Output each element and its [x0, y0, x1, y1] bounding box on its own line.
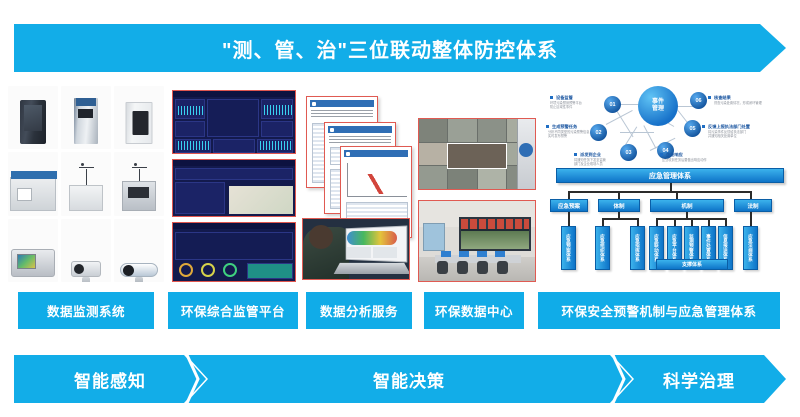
hub-node-05-num: 05	[689, 126, 695, 132]
tree-branch-jizhi: 机制	[650, 199, 724, 212]
hub-sub-05: 将污染事件反馈给执法部门 并通知相关处置单位	[708, 130, 746, 139]
cat-emergency[interactable]: 环保安全预警机制与应急管理体系	[538, 292, 780, 329]
hub-node-02: 02	[590, 124, 607, 141]
cat-data-center[interactable]: 环保数据中心	[424, 292, 524, 329]
equipment-photo-micro-station	[61, 152, 111, 215]
equipment-photo-portable-kit	[8, 219, 58, 282]
hub-node-02-num: 02	[595, 130, 601, 136]
data-center-photo-stack	[418, 118, 536, 282]
equipment-photo-ptz-camera	[61, 219, 111, 282]
analyst-laptop-photo	[302, 218, 410, 280]
tree-support-band: 支撑体系	[656, 259, 728, 270]
equipment-photo-analyzer	[61, 86, 111, 149]
hub-sub-04: 企业收到任务后要做出响应动作	[662, 158, 707, 162]
hub-node-03: 03	[620, 144, 637, 161]
step-governance[interactable]: 科学治理	[612, 355, 786, 403]
dashboard-screenshot-overview	[172, 90, 296, 154]
tree-branch-fazhi: 法制	[734, 199, 772, 212]
emergency-management-diagram: 事件 管理 01 02 03 04 05 06 设备监管 环境污染预测预警平台 …	[544, 84, 796, 282]
tree-branch-yjya: 应急预案	[550, 199, 588, 212]
dashboard-screenshot-stack	[172, 90, 296, 282]
tree-root-node: 应急管理体系	[556, 168, 784, 183]
tree-leaf-tizhi-1: 应急组织体系	[595, 226, 610, 270]
hub-node-06-num: 06	[695, 98, 701, 104]
hub-sub-03: 将通知任务下发至监管 部门及企业现场人员	[574, 158, 606, 167]
cat-env-platform[interactable]: 环保综合监管平台	[168, 292, 298, 329]
hub-sub-02: 分析不同类型的污染预警信息 实时发布预警	[548, 130, 589, 139]
cctv-multiview-photo	[418, 118, 536, 190]
equipment-photo-station	[8, 152, 58, 215]
dashboard-screenshot-source-list	[172, 159, 296, 217]
hub-node-01: 01	[604, 96, 621, 113]
hub-node-06: 06	[690, 92, 707, 109]
hub-center-node: 事件 管理	[638, 86, 678, 126]
equipment-photo-weather-sensor	[114, 152, 164, 215]
dashboard-screenshot-analysis	[172, 222, 296, 282]
cat-data-analysis[interactable]: 数据分析服务	[306, 292, 412, 329]
tree-leaf-tizhi-2: 应急指挥体系	[630, 226, 645, 270]
control-room-photo	[418, 200, 536, 282]
step-perception[interactable]: 智能感知	[14, 355, 206, 403]
equipment-photo-laser-camera	[114, 219, 164, 282]
process-flow: 智能感知 智能决策 科学治理	[14, 355, 786, 403]
step-decision[interactable]: 智能决策	[186, 355, 632, 403]
equipment-photo-grid	[8, 86, 164, 282]
equipment-photo-sampler	[114, 86, 164, 149]
hub-node-01-num: 01	[609, 102, 615, 108]
hub-sub-01: 环境污染预测预警平台 防止区域性事件	[550, 101, 582, 110]
tree-leaf-fazhi-1: 应急法规体系	[743, 226, 758, 270]
equipment-photo-cabinet	[8, 86, 58, 149]
hub-node-05: 05	[684, 120, 701, 137]
hub-center-label: 事件 管理	[652, 99, 664, 113]
tree-leaf-yjya-1: 应急预案体系	[561, 226, 576, 270]
infographic-page: "测、管、治"三位联动整体防控体系	[0, 0, 800, 417]
hub-sub-06: 督查污染处置情况，形成闭环管理	[714, 101, 762, 105]
tree-branch-tizhi: 体制	[598, 199, 640, 212]
page-title: "测、管、治"三位联动整体防控体系	[14, 24, 786, 72]
cat-data-monitoring[interactable]: 数据监测系统	[18, 292, 154, 329]
title-banner: "测、管、治"三位联动整体防控体系	[14, 24, 786, 72]
hub-node-03-num: 03	[625, 150, 631, 156]
